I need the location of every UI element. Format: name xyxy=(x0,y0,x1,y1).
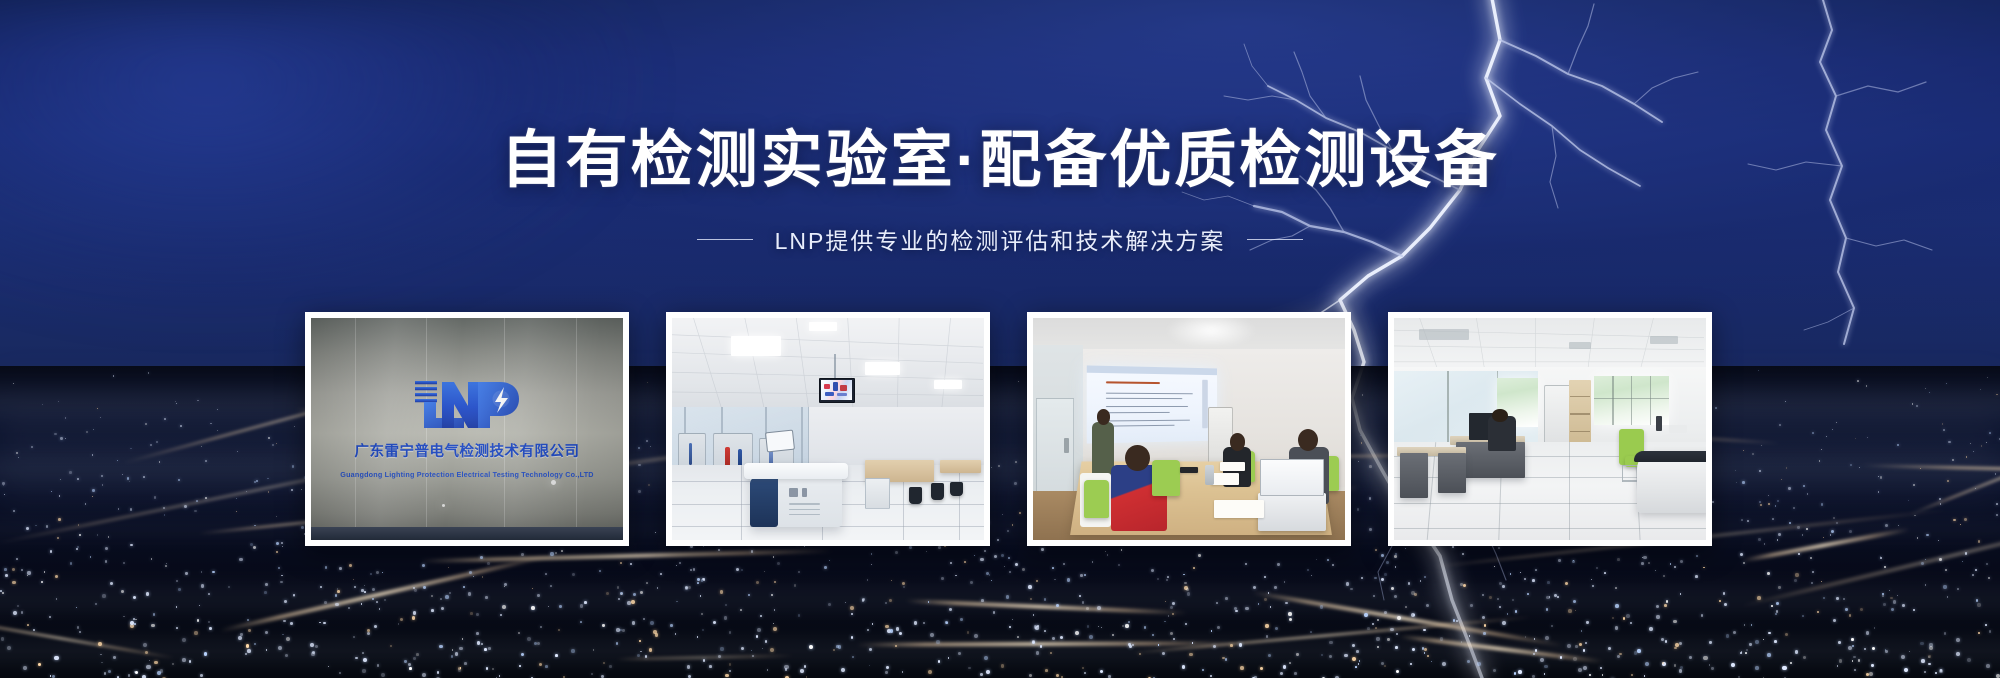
city-light xyxy=(1327,559,1329,561)
city-light xyxy=(679,562,681,564)
city-light xyxy=(143,476,145,478)
city-light xyxy=(49,616,51,618)
city-light xyxy=(1743,562,1745,564)
city-light xyxy=(481,643,483,645)
city-light xyxy=(349,564,352,567)
city-light xyxy=(1462,553,1464,555)
city-light xyxy=(381,673,385,677)
city-light xyxy=(41,581,43,583)
city-light xyxy=(926,551,927,552)
city-light xyxy=(208,593,210,595)
console-monitor xyxy=(765,430,795,453)
city-light xyxy=(1675,643,1679,647)
city-light xyxy=(1006,595,1010,599)
city-light xyxy=(1768,495,1769,496)
city-light xyxy=(272,444,274,446)
city-light xyxy=(1121,549,1123,551)
city-light xyxy=(1395,566,1397,568)
city-light xyxy=(240,633,242,635)
city-light xyxy=(1826,436,1827,437)
city-light xyxy=(236,511,237,512)
city-light xyxy=(571,649,575,653)
city-light xyxy=(1512,599,1514,601)
city-light xyxy=(1004,566,1005,567)
city-light xyxy=(102,594,106,598)
city-light xyxy=(1277,563,1279,565)
city-light xyxy=(1938,540,1939,541)
city-light xyxy=(1838,641,1841,644)
city-light xyxy=(1790,662,1792,664)
city-light xyxy=(1839,659,1843,663)
city-light xyxy=(27,624,29,626)
city-light xyxy=(1977,603,1980,606)
city-light xyxy=(1029,674,1032,677)
city-light xyxy=(348,607,350,609)
city-light xyxy=(21,569,23,571)
city-light xyxy=(1502,621,1506,625)
city-light xyxy=(1040,645,1042,647)
city-light xyxy=(559,605,562,608)
city-light xyxy=(1943,429,1945,431)
city-light xyxy=(413,657,416,660)
city-light xyxy=(1608,647,1611,650)
city-light xyxy=(646,582,648,584)
city-light xyxy=(148,372,150,374)
city-light xyxy=(1266,635,1268,637)
city-light xyxy=(1866,631,1870,635)
city-light xyxy=(85,503,87,505)
city-light xyxy=(1477,662,1481,666)
city-light xyxy=(1703,656,1707,660)
city-light xyxy=(1785,401,1786,402)
tile-line xyxy=(1427,442,1437,539)
city-light xyxy=(265,583,268,586)
city-light xyxy=(1210,675,1212,677)
photo-card-office-area[interactable] xyxy=(1388,312,1712,546)
city-light xyxy=(477,641,481,645)
city-light xyxy=(276,542,279,545)
city-light xyxy=(292,465,295,468)
city-light xyxy=(1673,620,1676,623)
city-light xyxy=(431,609,434,612)
city-light xyxy=(1375,627,1377,629)
city-light xyxy=(1858,659,1860,661)
city-light xyxy=(1798,553,1800,555)
city-light xyxy=(1384,665,1386,667)
city-light xyxy=(1880,557,1882,559)
city-light xyxy=(42,404,43,405)
city-light xyxy=(201,571,203,573)
city-light xyxy=(164,514,166,516)
photo-card-testing-laboratory[interactable] xyxy=(666,312,990,546)
city-light xyxy=(412,616,416,620)
city-light xyxy=(156,441,158,443)
city-light xyxy=(1514,672,1517,675)
city-light xyxy=(1641,562,1644,565)
city-light xyxy=(1107,554,1109,556)
city-light xyxy=(981,599,984,602)
city-light xyxy=(77,626,80,629)
city-light xyxy=(95,603,96,604)
city-light xyxy=(1386,561,1389,564)
city-light xyxy=(591,673,593,675)
city-light xyxy=(404,660,406,662)
city-light xyxy=(1874,627,1875,628)
city-light xyxy=(1264,598,1267,601)
city-light xyxy=(770,648,774,652)
city-light xyxy=(1649,627,1653,631)
city-light xyxy=(1052,567,1054,569)
city-light xyxy=(1921,562,1924,565)
city-light xyxy=(339,567,342,570)
city-light xyxy=(1740,553,1743,556)
city-light xyxy=(833,649,835,651)
city-light xyxy=(416,653,419,656)
city-light xyxy=(217,430,218,431)
window-bar xyxy=(1612,376,1613,425)
city-light xyxy=(293,594,295,596)
city-light xyxy=(1976,599,1979,602)
city-light xyxy=(1581,630,1583,632)
city-light xyxy=(1712,501,1714,503)
city-light xyxy=(1044,630,1046,632)
city-light xyxy=(1925,388,1926,389)
city-light xyxy=(180,425,182,427)
city-light xyxy=(1777,500,1779,502)
city-light xyxy=(462,638,464,640)
city-light xyxy=(986,670,990,674)
city-light xyxy=(1089,635,1093,639)
city-light xyxy=(1551,625,1553,627)
screen-content xyxy=(825,392,834,396)
city-light xyxy=(1760,504,1762,506)
counter-top xyxy=(1634,451,1706,462)
city-light xyxy=(670,624,673,627)
city-light xyxy=(1741,519,1743,521)
city-light xyxy=(1372,623,1374,625)
city-light xyxy=(871,564,872,565)
city-light xyxy=(65,417,67,419)
city-light xyxy=(1806,528,1808,530)
city-light xyxy=(76,548,78,550)
city-light xyxy=(1939,558,1942,561)
city-light xyxy=(1630,622,1632,624)
city-light xyxy=(77,478,79,480)
city-light xyxy=(1836,422,1837,423)
city-light xyxy=(4,568,7,571)
office-desk xyxy=(1400,453,1428,497)
city-light xyxy=(1235,610,1237,612)
city-light xyxy=(1092,561,1093,562)
photo-gallery: 广东雷宁普电气检测技术有限公司 Guangdong Lighting Prote… xyxy=(305,312,1712,546)
city-light xyxy=(38,663,41,666)
city-light xyxy=(176,627,178,629)
city-light xyxy=(974,634,978,638)
city-light xyxy=(777,562,780,565)
city-light xyxy=(1908,500,1909,501)
city-light xyxy=(130,544,132,546)
city-light xyxy=(476,613,479,616)
city-light xyxy=(1794,579,1797,582)
city-light xyxy=(1758,370,1759,371)
city-light xyxy=(276,551,277,552)
reception-counter xyxy=(1637,451,1706,513)
city-light xyxy=(1966,456,1968,458)
city-light xyxy=(713,621,716,624)
floor-baseboard xyxy=(311,527,623,540)
city-light xyxy=(1715,407,1717,409)
city-light xyxy=(1230,644,1233,647)
city-light xyxy=(599,570,601,572)
city-light xyxy=(128,674,131,677)
city-light xyxy=(1741,651,1743,653)
city-light xyxy=(994,555,997,558)
city-light xyxy=(1745,652,1747,654)
city-light xyxy=(134,671,136,673)
city-light xyxy=(57,537,59,539)
ceiling-light xyxy=(809,322,837,331)
city-light xyxy=(488,647,491,650)
city-light xyxy=(166,563,167,564)
city-light xyxy=(1767,572,1770,575)
city-light xyxy=(1583,666,1587,670)
city-light xyxy=(1986,664,1990,668)
phone xyxy=(1180,467,1199,474)
city-light xyxy=(1772,518,1774,520)
city-light xyxy=(281,542,283,544)
city-light xyxy=(1987,377,1988,378)
city-light xyxy=(204,652,208,656)
city-light xyxy=(499,675,501,677)
city-light xyxy=(1626,614,1630,618)
city-light xyxy=(1364,613,1368,617)
city-light xyxy=(1086,607,1089,610)
city-light xyxy=(1396,670,1399,673)
city-light xyxy=(485,596,488,599)
city-light xyxy=(1239,643,1242,646)
city-light xyxy=(1280,672,1283,675)
city-light xyxy=(1520,572,1521,573)
city-light xyxy=(1648,562,1650,564)
city-light xyxy=(1778,586,1780,588)
city-light xyxy=(122,474,123,475)
city-light xyxy=(896,627,900,631)
city-light xyxy=(1674,566,1676,568)
city-light xyxy=(1944,632,1947,635)
screen-content xyxy=(840,385,847,391)
city-light xyxy=(537,642,540,645)
city-light xyxy=(362,669,365,672)
city-light xyxy=(1615,604,1619,608)
photo-card-company-lobby-wall[interactable]: 广东雷宁普电气检测技术有限公司 Guangdong Lighting Prote… xyxy=(305,312,629,546)
city-light xyxy=(1100,670,1103,673)
city-light xyxy=(1139,653,1140,654)
city-light xyxy=(1424,648,1427,651)
city-light xyxy=(1711,667,1713,669)
city-light xyxy=(1981,445,1983,447)
city-light xyxy=(18,457,19,458)
city-light xyxy=(1390,628,1393,631)
city-light xyxy=(1912,403,1914,405)
city-light xyxy=(92,489,95,492)
city-light xyxy=(1689,656,1692,659)
city-light xyxy=(1544,665,1547,668)
city-light xyxy=(1502,585,1505,588)
city-light xyxy=(1631,674,1633,676)
city-light xyxy=(1956,652,1960,656)
city-light xyxy=(1986,442,1987,443)
city-light xyxy=(1575,645,1578,648)
city-light xyxy=(1836,597,1839,600)
city-light xyxy=(1902,604,1905,607)
city-light xyxy=(17,605,19,607)
hero-banner: 自有检测实验室·配备优质检测设备 LNP提供专业的检测评估和技术解决方案 xyxy=(0,0,2000,678)
photo-company-lobby-wall: 广东雷宁普电气检测技术有限公司 Guangdong Lighting Prote… xyxy=(311,318,623,540)
city-light xyxy=(550,552,553,555)
city-light xyxy=(130,508,132,510)
city-light xyxy=(1852,660,1854,662)
wall-monitor xyxy=(819,378,855,403)
city-light xyxy=(105,560,107,562)
city-light xyxy=(550,585,552,587)
city-light xyxy=(113,375,115,377)
city-light xyxy=(1947,480,1949,482)
city-light xyxy=(1788,487,1790,489)
tile-line xyxy=(959,465,960,540)
city-light xyxy=(622,629,624,631)
city-light xyxy=(16,558,18,560)
meeting-chair xyxy=(1084,480,1109,518)
city-light xyxy=(1943,585,1946,588)
office-chair xyxy=(909,487,922,504)
city-light xyxy=(2,482,5,485)
city-light xyxy=(51,491,52,492)
city-light xyxy=(5,574,8,577)
city-light xyxy=(69,471,72,474)
city-light xyxy=(154,496,156,498)
city-light xyxy=(1376,637,1379,640)
city-light xyxy=(740,609,742,611)
city-light xyxy=(540,626,542,628)
city-light xyxy=(1679,669,1683,673)
city-light xyxy=(1719,600,1721,602)
city-light xyxy=(1615,587,1617,589)
city-light xyxy=(143,643,147,647)
city-light xyxy=(1811,582,1813,584)
city-light xyxy=(895,551,898,554)
tv-mount xyxy=(834,354,836,381)
city-light xyxy=(1265,624,1268,627)
city-light xyxy=(1731,663,1735,667)
city-light xyxy=(484,648,487,651)
person-head xyxy=(1097,409,1111,425)
city-light xyxy=(256,480,257,481)
desk-cabinet xyxy=(865,478,890,509)
city-light xyxy=(627,601,631,605)
city-light xyxy=(54,433,56,435)
city-light xyxy=(374,625,377,628)
city-light xyxy=(1532,675,1535,678)
city-light xyxy=(59,495,61,497)
city-light xyxy=(1395,646,1398,649)
ceiling-light xyxy=(731,336,781,356)
city-light xyxy=(697,582,699,584)
city-light xyxy=(1578,668,1582,672)
city-light xyxy=(1742,481,1745,484)
console-top xyxy=(744,463,847,480)
city-light xyxy=(693,568,696,571)
city-light xyxy=(409,667,412,670)
console-port xyxy=(802,488,808,497)
city-light xyxy=(639,640,641,642)
city-light xyxy=(205,497,207,499)
city-light xyxy=(602,624,604,626)
city-light xyxy=(97,534,98,535)
city-light xyxy=(950,562,952,564)
partition-frame xyxy=(1447,371,1449,446)
city-light xyxy=(1843,598,1845,600)
city-light xyxy=(1112,634,1114,636)
city-light xyxy=(31,446,33,448)
city-light xyxy=(1001,554,1004,557)
city-light xyxy=(1634,651,1638,655)
city-light xyxy=(655,633,658,636)
city-light xyxy=(445,595,449,599)
city-light xyxy=(1592,585,1594,587)
city-light xyxy=(1361,577,1363,579)
city-light xyxy=(1470,604,1473,607)
office-desk xyxy=(1438,453,1466,493)
city-light xyxy=(620,562,622,564)
city-light xyxy=(984,550,986,552)
city-light xyxy=(545,573,547,575)
city-light xyxy=(50,675,52,677)
city-light xyxy=(1776,602,1779,605)
photo-card-training-meeting-room[interactable] xyxy=(1027,312,1351,546)
city-light xyxy=(1080,574,1083,577)
city-light xyxy=(145,651,148,654)
city-light xyxy=(1483,632,1486,635)
city-light xyxy=(90,556,92,558)
city-light xyxy=(250,543,253,546)
city-light xyxy=(545,665,548,668)
city-light xyxy=(909,546,912,549)
city-light xyxy=(603,662,605,664)
city-light xyxy=(980,558,983,561)
city-light xyxy=(1878,491,1880,493)
city-light xyxy=(974,555,975,556)
city-light xyxy=(1797,526,1799,528)
slide-text xyxy=(1106,419,1190,421)
city-light xyxy=(197,619,200,622)
city-light xyxy=(468,592,471,595)
slide-text xyxy=(1106,392,1192,394)
city-light xyxy=(1009,571,1011,573)
city-light xyxy=(482,576,484,578)
city-light xyxy=(724,616,728,620)
city-light xyxy=(1118,564,1120,566)
city-light xyxy=(264,591,267,594)
city-light xyxy=(773,623,774,624)
person-head xyxy=(1125,445,1150,472)
city-light xyxy=(130,621,134,625)
city-light xyxy=(1812,432,1814,434)
city-light xyxy=(176,606,178,608)
city-light xyxy=(12,568,15,571)
city-light xyxy=(1084,574,1086,576)
screen-content xyxy=(824,384,830,389)
city-light xyxy=(1774,640,1777,643)
